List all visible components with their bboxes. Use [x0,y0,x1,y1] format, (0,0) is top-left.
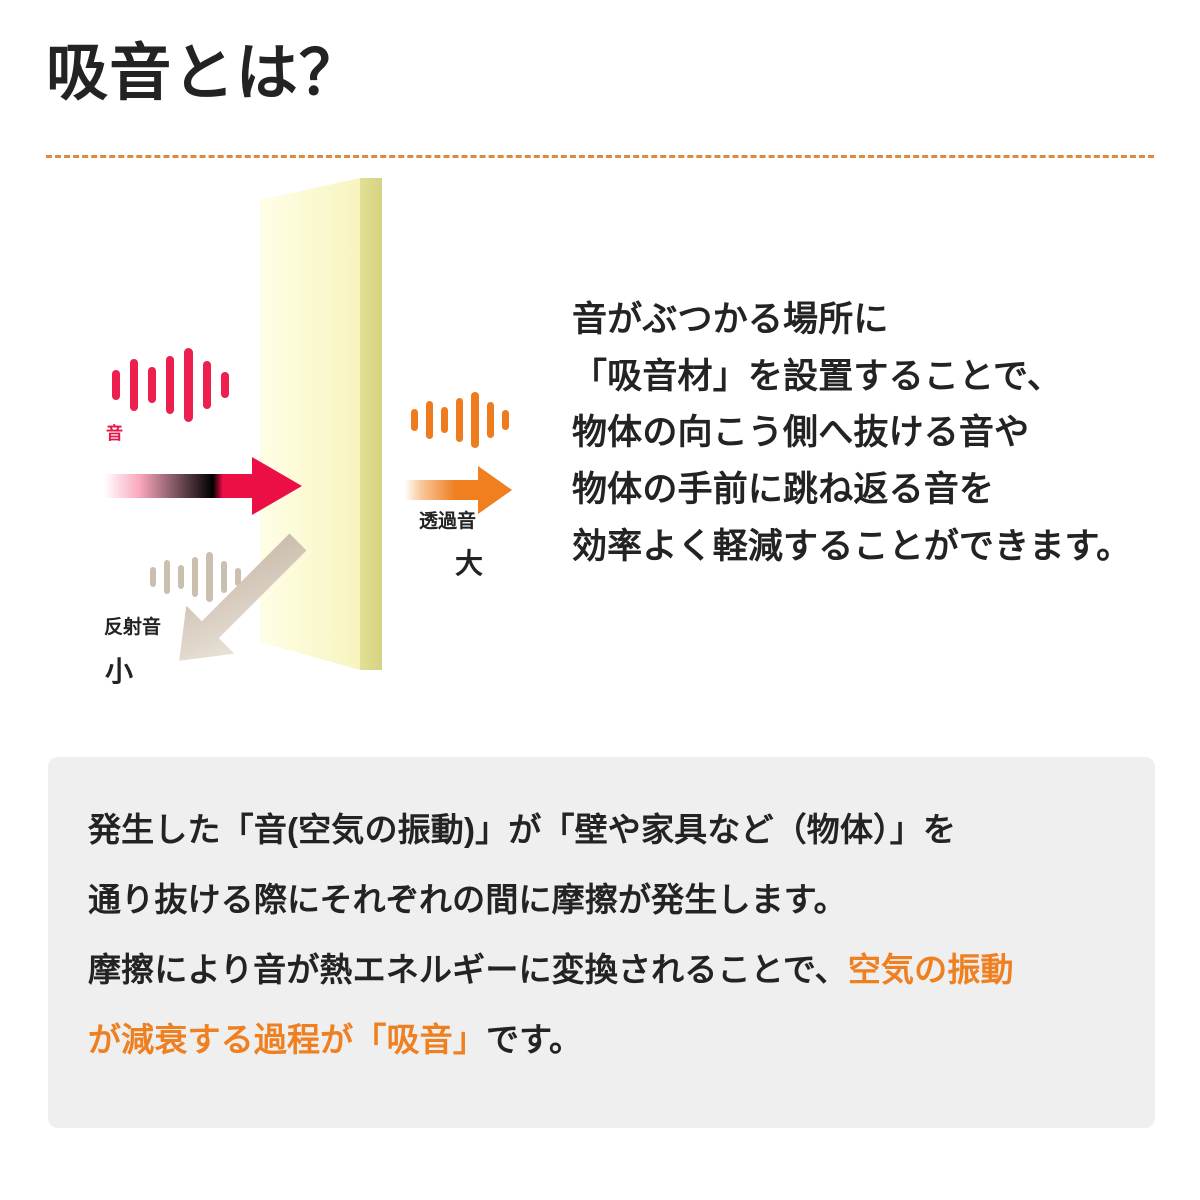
note-line: 通り抜ける際にそれぞれの間に摩擦が発生します。 [88,865,1131,935]
title-divider [46,155,1154,158]
description-line: 効率よく軽減することができます。 [572,519,1172,576]
description-line: 音がぶつかる場所に [572,292,1172,349]
reflected-sound-label: 反射音 [104,618,161,637]
page-root: 吸音とは？ [0,0,1200,1200]
reflected-sound-magnitude: 小 [105,658,133,686]
note-segment: 摩擦により音が熱エネルギーに変換されることで、 [88,951,848,988]
description-paragraph: 音がぶつかる場所に 「吸音材」を設置することで、 物体の向こう側へ抜ける音や 物… [572,292,1172,575]
note-line: 発生した「音(空気の振動)」が「壁や家具など（物体）」を [88,795,1131,865]
transmitted-sound-label: 透過音 [419,512,476,531]
reflected-sound-arrow-icon [140,500,340,705]
transmitted-sound-wave-icon [411,392,509,448]
incoming-sound-label: 音 [106,425,123,442]
note-line: 摩擦により音が熱エネルギーに変換されることで、空気の振動 [88,935,1131,1005]
description-line: 物体の向こう側へ抜ける音や [572,405,1172,462]
description-line: 物体の手前に跳ね返る音を [572,462,1172,519]
sound-absorption-diagram: 音 [0,170,560,730]
note-segment: です。 [486,1021,582,1058]
description-line: 「吸音材」を設置することで、 [572,349,1172,406]
note-card-body: 発生した「音(空気の振動)」が「壁や家具など（物体）」を 通り抜ける際にそれぞれ… [88,795,1131,1075]
note-line: が減衰する過程が「吸音」です。 [88,1005,1131,1075]
note-segment: 通り抜ける際にそれぞれの間に摩擦が発生します。 [88,881,847,918]
note-segment-highlight: 空気の振動 [848,951,1014,988]
incoming-sound-wave-icon [112,348,229,422]
note-segment-highlight: が減衰する過程が「吸音」 [88,1021,486,1058]
note-segment: 発生した「音(空気の振動)」が「壁や家具など（物体）」を [88,811,956,848]
note-card: 発生した「音(空気の振動)」が「壁や家具など（物体）」を 通り抜ける際にそれぞれ… [48,757,1155,1128]
page-title: 吸音とは？ [46,40,362,108]
transmitted-sound-magnitude: 大 [455,550,483,578]
